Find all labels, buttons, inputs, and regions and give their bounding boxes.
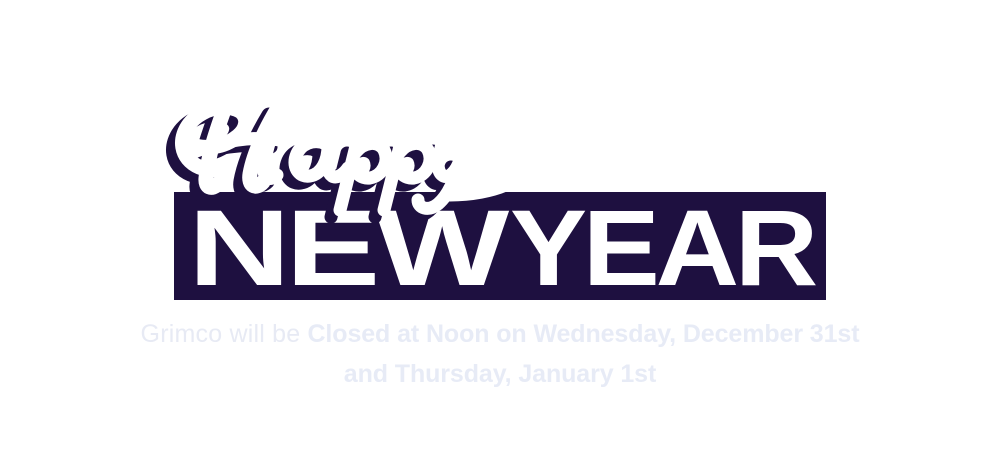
happy-new-year-banner: NEW YEAR (0, 0, 1000, 465)
closure-notice: Grimco will be Closed at Noon on Wednesd… (0, 316, 1000, 396)
closure-notice-line-2: and Thursday, January 1st (0, 356, 1000, 396)
closure-notice-emphasis-1: Closed at Noon on Wednesday, December 31… (307, 320, 859, 348)
closure-notice-prefix: Grimco will be (141, 320, 308, 348)
closure-notice-emphasis-2: and Thursday, January 1st (344, 360, 656, 388)
script-word-happy (150, 78, 530, 223)
closure-notice-line-1: Grimco will be Closed at Noon on Wednesd… (0, 316, 1000, 356)
